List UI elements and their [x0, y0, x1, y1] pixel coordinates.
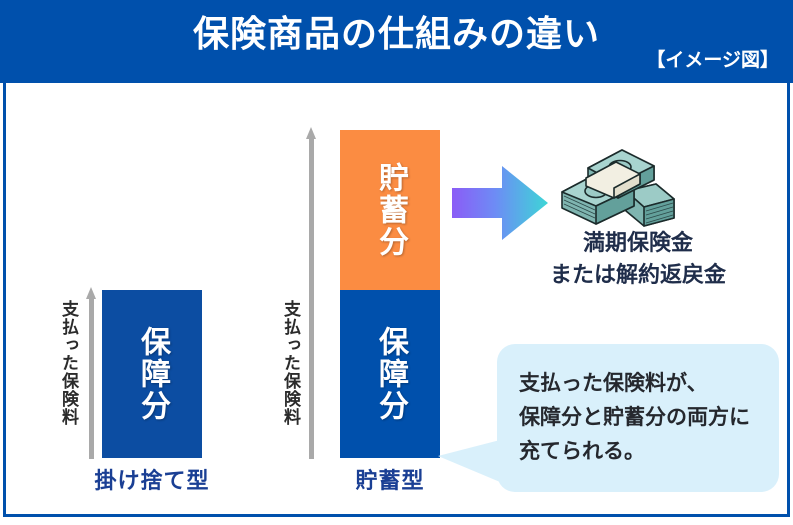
bar-label-protection-savings: 保障分: [373, 326, 407, 422]
axis-label-premium-savings: 支払った保険料: [280, 300, 300, 426]
arrow-shaft: [89, 297, 94, 459]
bar-segment-protection-term: 保障分: [102, 290, 202, 458]
payout-line-2: または解約返戻金: [508, 260, 768, 292]
callout-tail: [438, 440, 500, 482]
bar-label-protection-term: 保障分: [135, 326, 169, 422]
payout-line-1: 満期保険金: [508, 228, 768, 260]
bar-segment-protection-savings: 保障分: [340, 290, 440, 458]
chart-caption-term: 掛け捨て型: [62, 468, 242, 496]
callout-text: 支払った保険料が、 保障分と貯蓄分の両方に 充てられる。: [519, 366, 769, 468]
header-band: 保険商品の仕組みの違い 【イメージ図】: [0, 0, 793, 83]
payout-caption: 満期保険金 または解約返戻金: [508, 228, 768, 292]
premium-axis-arrow-term: [86, 287, 96, 459]
insurance-comparison-infographic: 保険商品の仕組みの違い 【イメージ図】 支払った保険料 保障分 掛け捨て型 支払…: [0, 0, 793, 525]
bar-label-savings: 貯蓄分: [373, 162, 407, 258]
callout-line-3: 充てられる。: [519, 434, 769, 468]
premium-axis-arrow-savings: [306, 127, 316, 459]
bar-segment-savings: 貯蓄分: [340, 130, 440, 290]
money-bundle-icon: [556, 144, 678, 236]
callout-line-1: 支払った保険料が、: [519, 366, 769, 400]
axis-label-premium-term: 支払った保険料: [58, 300, 78, 426]
callout-line-2: 保障分と貯蓄分の両方に: [519, 400, 769, 434]
arrow-shaft: [309, 137, 314, 459]
image-diagram-badge: 【イメージ図】: [646, 48, 779, 72]
